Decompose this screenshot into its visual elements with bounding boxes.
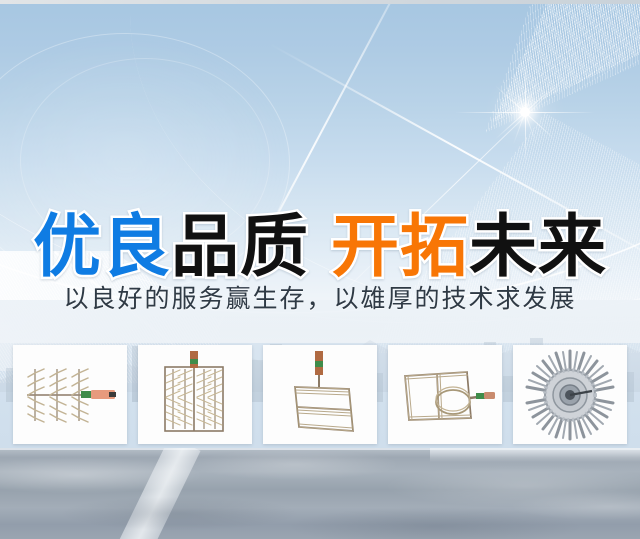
- product-card-3[interactable]: [263, 345, 377, 444]
- headline-segment-3: 开拓: [331, 212, 469, 284]
- top-edge-strip: [0, 0, 640, 4]
- promo-banner: 优良品质 开拓未来 以良好的服务赢生存，以雄厚的技术求发展: [0, 0, 640, 539]
- finned-tube-comb-icon: [17, 355, 123, 435]
- product-card-1[interactable]: [13, 345, 127, 444]
- headline-gap: [309, 212, 331, 284]
- subtitle: 以良好的服务赢生存，以雄厚的技术求发展: [0, 283, 640, 315]
- headline: 优良品质 开拓未来: [0, 212, 640, 284]
- finned-tube-panel-icon: [277, 349, 363, 441]
- headline-segment-2: 品质: [171, 212, 309, 284]
- radial-fin-disc-icon: [522, 347, 618, 443]
- finned-tube-coil-icon: [393, 358, 497, 432]
- product-card-row: [0, 345, 640, 444]
- finned-tube-rectangle-icon: [149, 349, 241, 441]
- product-card-2[interactable]: [138, 345, 252, 444]
- product-card-5[interactable]: [513, 345, 627, 444]
- ground-highlight: [430, 448, 640, 462]
- headline-segment-4: 未来: [469, 212, 607, 284]
- product-card-4[interactable]: [388, 345, 502, 444]
- headline-segment-1: 优良: [33, 212, 171, 284]
